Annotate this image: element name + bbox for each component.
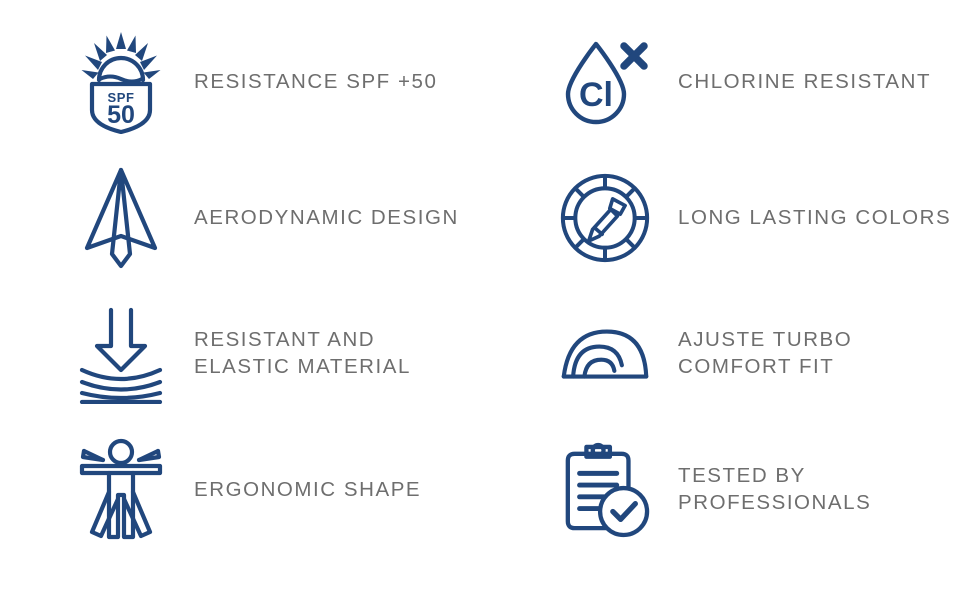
feature-item-tested: TESTED BY PROFESSIONALS <box>484 422 968 558</box>
feature-label-aerodynamic: AERODYNAMIC DESIGN <box>194 205 459 232</box>
feature-item-comfort: AJUSTE TURBO COMFORT FIT <box>484 286 968 422</box>
nested-arcs-comfort-icon <box>560 299 650 409</box>
feature-item-aerodynamic: AERODYNAMIC DESIGN <box>0 150 484 286</box>
spf-shield-sun-icon: SPF 50 <box>76 27 166 137</box>
feature-item-elastic: RESISTANT AND ELASTIC MATERIAL <box>0 286 484 422</box>
spf-icon-value-text: 50 <box>107 101 135 129</box>
color-wheel-dropper-icon <box>560 163 650 273</box>
arrow-down-elastic-layers-icon <box>76 299 166 409</box>
clipboard-check-icon <box>560 435 650 545</box>
chlorine-symbol-text: Cl <box>579 76 613 114</box>
feature-label-colors: LONG LASTING COLORS <box>678 205 951 232</box>
feature-item-colors: LONG LASTING COLORS <box>484 150 968 286</box>
chlorine-droplet-no-icon: Cl <box>560 27 650 137</box>
feature-label-spf: RESISTANCE SPF +50 <box>194 69 437 96</box>
feature-label-elastic: RESISTANT AND ELASTIC MATERIAL <box>194 327 411 380</box>
feature-label-chlorine: CHLORINE RESISTANT <box>678 69 931 96</box>
feature-item-spf: SPF 50 RESISTANCE SPF +50 <box>0 14 484 150</box>
feature-item-ergonomic: ERGONOMIC SHAPE <box>0 422 484 558</box>
feature-label-comfort: AJUSTE TURBO COMFORT FIT <box>678 327 852 380</box>
feature-label-tested: TESTED BY PROFESSIONALS <box>678 463 871 516</box>
paper-plane-aerodynamic-icon <box>76 163 166 273</box>
feature-item-chlorine: Cl CHLORINE RESISTANT <box>484 14 968 150</box>
feature-label-ergonomic: ERGONOMIC SHAPE <box>194 477 421 504</box>
vitruvian-figure-icon <box>76 435 166 545</box>
features-grid: SPF 50 RESISTANCE SPF +50 Cl CHLORINE RE… <box>0 0 968 606</box>
